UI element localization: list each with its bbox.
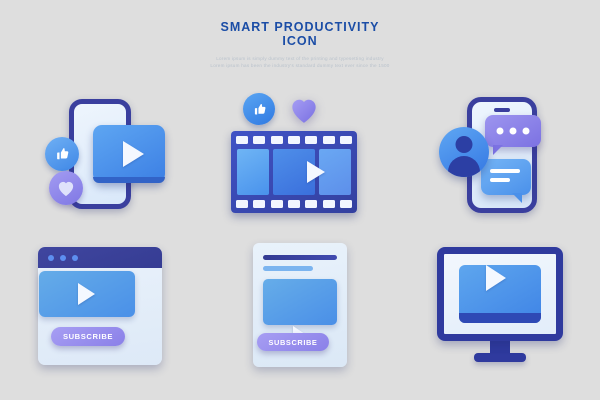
icon-cell-browser-subscribe[interactable]: SUBSCRIBE: [0, 236, 200, 376]
subscribe-button[interactable]: SUBSCRIBE: [51, 327, 125, 346]
browser-subscribe-icon: SUBSCRIBE: [25, 241, 175, 371]
phone-speaker-notch: [494, 108, 510, 112]
sprocket-row-top: [236, 136, 352, 144]
sprocket-hole: [305, 200, 317, 208]
sprocket-hole: [305, 136, 317, 144]
subscribe-button-label: SUBSCRIBE: [269, 338, 318, 347]
play-button-icon[interactable]: [78, 283, 95, 305]
icon-cell-mobile-video-reactions[interactable]: [0, 86, 200, 226]
film-strip-reactions-icon: [225, 91, 375, 221]
subscribe-button[interactable]: SUBSCRIBE: [257, 333, 329, 351]
typing-bubble[interactable]: [485, 115, 541, 147]
icon-set-poster: SMART PRODUCTIVITY ICON Lorem ipsum is s…: [0, 0, 600, 400]
sprocket-hole: [340, 200, 352, 208]
sprocket-hole: [253, 136, 265, 144]
play-button-icon[interactable]: [123, 141, 144, 167]
sprocket-hole: [236, 136, 248, 144]
heart-glyph: [57, 180, 75, 197]
subtext-line: [263, 266, 313, 271]
typing-dot: [497, 128, 504, 135]
browser-title-bar: [38, 247, 162, 268]
window-dot-minimize-icon[interactable]: [60, 255, 66, 261]
message-text-lines: [490, 169, 520, 182]
page-title: SMART PRODUCTIVITY ICON: [0, 20, 600, 48]
sprocket-hole: [288, 136, 300, 144]
typing-dots: [497, 128, 530, 135]
film-strip: [231, 131, 357, 213]
sprocket-hole: [340, 136, 352, 144]
user-avatar[interactable]: [439, 127, 489, 177]
poster-header: SMART PRODUCTIVITY ICON Lorem ipsum is s…: [0, 20, 600, 69]
mobile-video-reactions-icon: [25, 91, 175, 221]
avatar-head: [456, 136, 473, 153]
typing-dot: [510, 128, 517, 135]
play-button-icon[interactable]: [307, 161, 325, 183]
thumbs-up-glyph: [53, 145, 71, 163]
page-subtitle: Lorem ipsum is simply dummy text of the …: [0, 55, 600, 69]
monitor-frame: [437, 247, 563, 341]
sprocket-hole: [236, 200, 248, 208]
icon-cell-card-subscribe[interactable]: SUBSCRIBE: [200, 236, 400, 376]
sprocket-hole: [288, 200, 300, 208]
desktop-monitor-video-icon: [425, 241, 575, 371]
heart-reaction-icon[interactable]: [49, 171, 83, 205]
icon-cell-mobile-chat[interactable]: [400, 86, 600, 226]
subscribe-button-label: SUBSCRIBE: [63, 332, 113, 341]
message-line: [490, 178, 510, 182]
avatar-body: [448, 156, 480, 177]
mobile-chat-icon: [425, 91, 575, 221]
icon-cell-desktop-monitor-video[interactable]: [400, 236, 600, 376]
heart-reaction-icon[interactable]: [289, 97, 319, 124]
icon-grid: SUBSCRIBE SUBSCRIBE: [0, 86, 600, 386]
film-frames: [237, 149, 351, 195]
play-button-icon[interactable]: [486, 265, 506, 291]
monitor-base: [474, 353, 526, 362]
sprocket-hole: [253, 200, 265, 208]
sprocket-row-bottom: [236, 200, 352, 208]
sprocket-hole: [271, 136, 283, 144]
thumbs-up-reaction-icon[interactable]: [45, 137, 79, 171]
window-dot-close-icon[interactable]: [48, 255, 54, 261]
video-player[interactable]: [263, 279, 337, 325]
sprocket-hole: [323, 200, 335, 208]
window-dot-maximize-icon[interactable]: [72, 255, 78, 261]
message-bubble[interactable]: [481, 159, 531, 195]
thumbs-up-reaction-icon[interactable]: [243, 93, 275, 125]
card-subscribe-icon: SUBSCRIBE: [225, 241, 375, 371]
sprocket-hole: [323, 136, 335, 144]
typing-dot: [523, 128, 530, 135]
sprocket-hole: [271, 200, 283, 208]
headline-line: [263, 255, 337, 260]
frame-left: [237, 149, 269, 195]
thumbs-up-glyph: [251, 101, 268, 118]
icon-cell-film-strip-reactions[interactable]: [200, 86, 400, 226]
message-line: [490, 169, 520, 173]
